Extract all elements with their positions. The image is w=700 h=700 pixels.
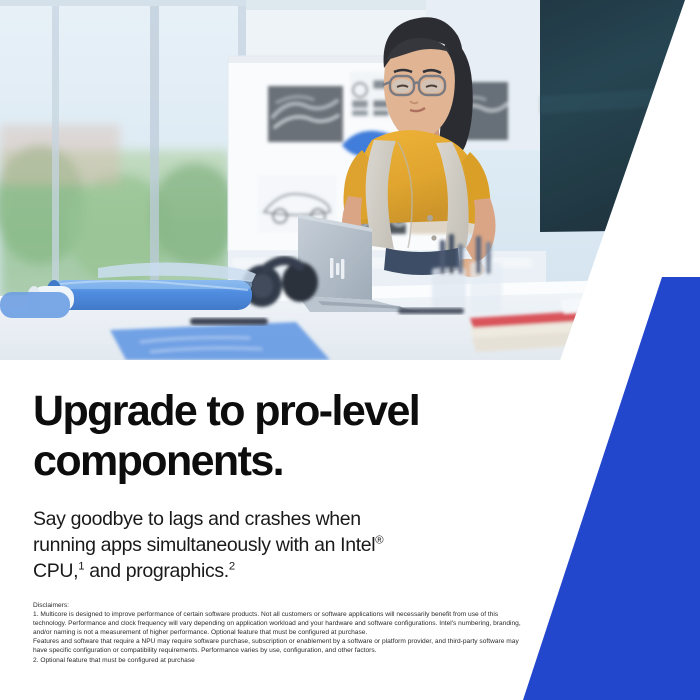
footnote-ref-2: 2	[229, 561, 235, 573]
hero-photo-illustration	[0, 0, 700, 360]
subheading: Say goodbye to lags and crashes whenrunn…	[33, 506, 503, 584]
page-title: Upgrade to pro-level components.	[33, 386, 503, 486]
subheading-line-3: CPU,	[33, 560, 78, 582]
hp-promotional-ad: Upgrade to pro-level components. Say goo…	[0, 0, 700, 700]
subheading-line-2: running apps simultaneously with an Inte…	[33, 534, 375, 556]
subheading-line-1: Say goodbye to lags and crashes when	[33, 508, 361, 530]
disclaimer-item: 2. Optional feature that must be configu…	[33, 656, 530, 665]
disclaimer-item: 1. Multicore is designed to improve perf…	[33, 610, 530, 637]
disclaimers-title: Disclaimers:	[33, 601, 530, 610]
disclaimer-item: Features and software that require a NPU…	[33, 637, 530, 655]
disclaimers-block: Disclaimers: 1. Multicore is designed to…	[33, 601, 530, 665]
hero-photo	[0, 0, 700, 360]
subheading-line-3-mid: and prographics.	[84, 560, 229, 582]
registered-trademark-mark: ®	[375, 535, 383, 547]
ad-copy-block: Upgrade to pro-level components. Say goo…	[33, 386, 503, 584]
